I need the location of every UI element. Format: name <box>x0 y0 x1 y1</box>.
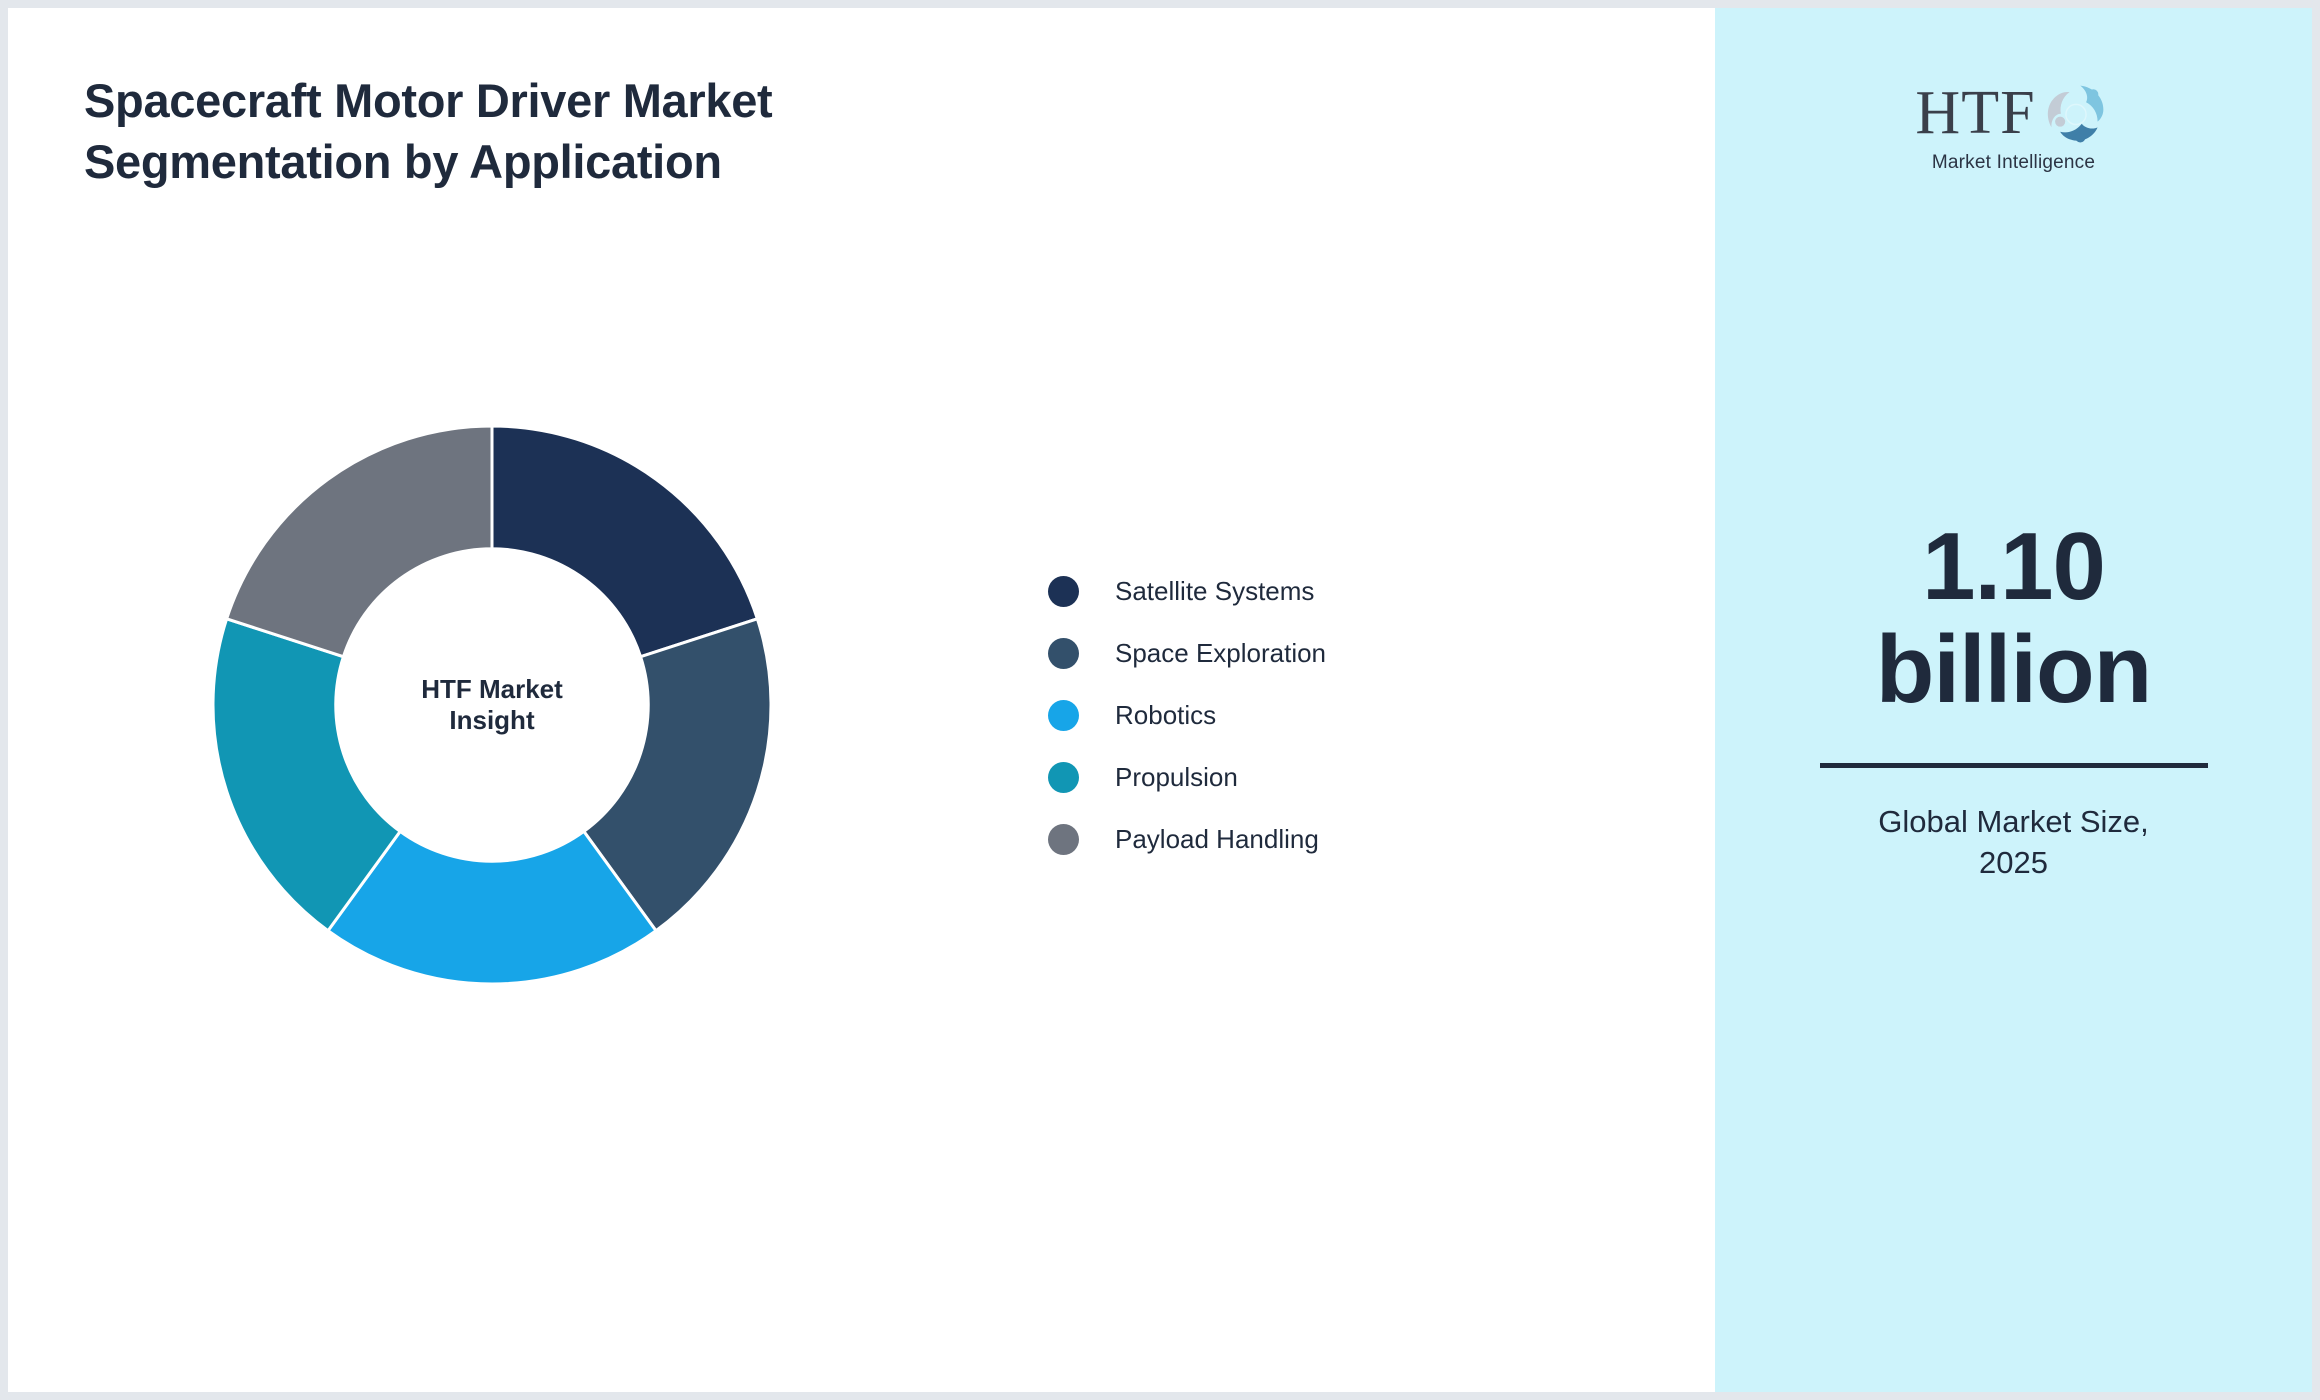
legend-swatch-icon <box>1048 700 1079 731</box>
legend-swatch-icon <box>1048 576 1079 607</box>
stat-caption-line-1: Global Market Size, <box>1715 802 2312 843</box>
chart-legend: Satellite Systems Space Exploration Robo… <box>1048 560 1326 870</box>
legend-item-propulsion[interactable]: Propulsion <box>1048 746 1326 808</box>
stat-block: 1.10 billion Global Market Size, 2025 <box>1715 516 2312 884</box>
stat-divider <box>1820 763 2208 768</box>
legend-item-satellite-systems[interactable]: Satellite Systems <box>1048 560 1326 622</box>
donut-slice[interactable] <box>492 426 757 657</box>
htf-triskelion-emblem-icon <box>2040 77 2112 149</box>
legend-item-robotics[interactable]: Robotics <box>1048 684 1326 746</box>
logo-mark-row: HTF <box>1915 70 2111 156</box>
logo-tagline: Market Intelligence <box>1932 152 2095 174</box>
stat-caption: Global Market Size, 2025 <box>1715 802 2312 884</box>
stat-pane: HTF Market Intelligence 1.10 billion <box>1715 8 2312 1392</box>
donut-chart: HTF Market Insight <box>212 425 772 985</box>
legend-swatch-icon <box>1048 824 1079 855</box>
stat-value: 1.10 billion <box>1715 516 2312 721</box>
legend-item-payload-handling[interactable]: Payload Handling <box>1048 808 1326 870</box>
legend-swatch-icon <box>1048 762 1079 793</box>
donut-slice-group <box>213 426 771 984</box>
legend-item-label: Payload Handling <box>1115 824 1319 855</box>
stat-value-line-2: billion <box>1715 619 2312 722</box>
legend-item-space-exploration[interactable]: Space Exploration <box>1048 622 1326 684</box>
donut-slice[interactable] <box>227 426 492 657</box>
donut-chart-svg <box>212 425 772 985</box>
htf-logo: HTF Market Intelligence <box>1889 70 2139 192</box>
legend-item-label: Robotics <box>1115 700 1216 731</box>
chart-pane: Spacecraft Motor Driver Market Segmentat… <box>8 8 1715 1392</box>
page-title-line-2: Segmentation by Application <box>84 138 1084 185</box>
legend-item-label: Propulsion <box>1115 762 1238 793</box>
stat-caption-line-2: 2025 <box>1715 843 2312 884</box>
stat-value-line-1: 1.10 <box>1715 516 2312 619</box>
legend-item-label: Satellite Systems <box>1115 576 1314 607</box>
legend-swatch-icon <box>1048 638 1079 669</box>
infographic-card: Spacecraft Motor Driver Market Segmentat… <box>8 8 2312 1392</box>
page-title: Spacecraft Motor Driver Market Segmentat… <box>84 77 1084 199</box>
legend-item-label: Space Exploration <box>1115 638 1326 669</box>
page-title-line-1: Spacecraft Motor Driver Market <box>84 77 1084 124</box>
logo-wordmark: HTF <box>1915 82 2035 144</box>
